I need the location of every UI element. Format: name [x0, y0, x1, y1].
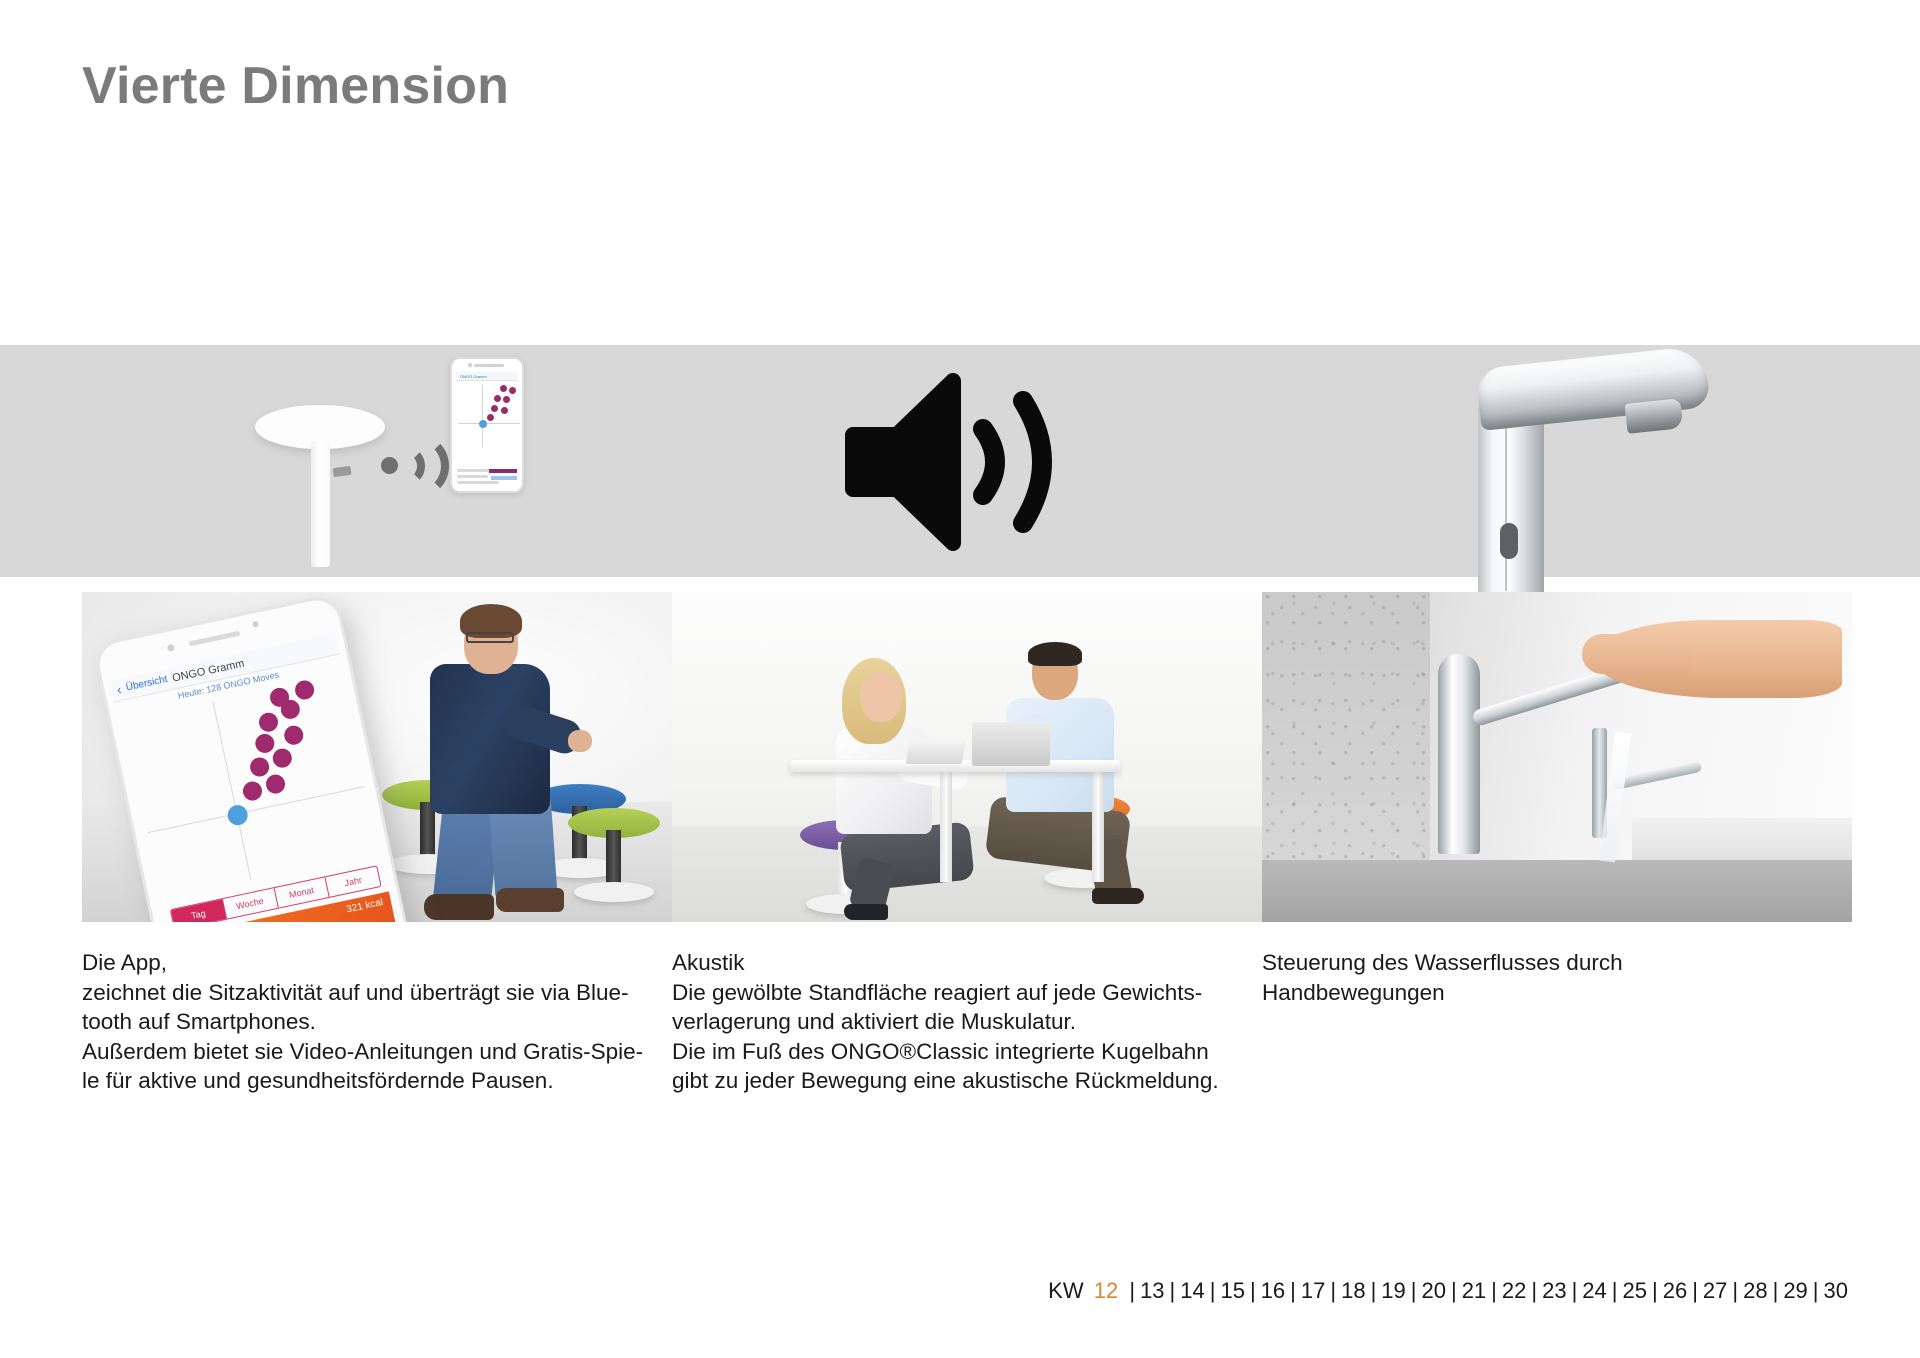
kw-separator: |	[1290, 1278, 1296, 1303]
phone-legend	[457, 469, 517, 487]
bluetooth-signal-icon	[381, 431, 443, 503]
kw-separator: |	[1692, 1278, 1698, 1303]
app-back-label[interactable]: Übersicht	[125, 674, 169, 694]
kw-separator: |	[1572, 1278, 1578, 1303]
tab-tag[interactable]: Tag	[171, 899, 227, 922]
photo-app: ‹ Übersicht ONGO Gramm Heute: 128 ONGO M…	[82, 592, 672, 922]
kw-week-14[interactable]: 14	[1180, 1278, 1204, 1303]
stool-icon	[255, 405, 385, 565]
kw-week-17[interactable]: 17	[1301, 1278, 1325, 1303]
phone-camera-dot	[468, 363, 472, 367]
phone-navbar-label: ONGO Gramm	[456, 372, 518, 381]
signal-arc-outer	[391, 435, 449, 497]
slide-root: Vierte Dimension ONGO Gramm	[0, 0, 1920, 1358]
tablet-device	[906, 738, 967, 764]
photo-akustik	[672, 592, 1262, 922]
faucet-sensor-eye	[1500, 523, 1518, 559]
caption-line: le für aktive und gesundheitsfördernde P…	[82, 1066, 682, 1096]
person-woman	[802, 652, 982, 902]
kw-week-26[interactable]: 26	[1663, 1278, 1687, 1303]
stool-sensor-tab	[332, 466, 351, 477]
faucet-body	[1478, 403, 1544, 593]
caption-line: Akustik	[672, 948, 1272, 978]
kw-separator: |	[1250, 1278, 1256, 1303]
kw-week-29[interactable]: 29	[1783, 1278, 1807, 1303]
laptop-device	[972, 722, 1050, 766]
kw-week-15[interactable]: 15	[1220, 1278, 1244, 1303]
faucet-outlet	[1625, 398, 1684, 434]
kw-current-week[interactable]: 12	[1094, 1278, 1118, 1303]
kw-week-19[interactable]: 19	[1381, 1278, 1405, 1303]
kw-separator: |	[1491, 1278, 1497, 1303]
caption-app: Die App, zeichnet die Sitzaktivität auf …	[82, 948, 682, 1096]
plot-axis-vertical	[482, 385, 483, 447]
kw-week-28[interactable]: 28	[1743, 1278, 1767, 1303]
kw-separator: |	[1773, 1278, 1779, 1303]
phone-speaker-slot	[474, 364, 504, 367]
concrete-wall	[1262, 592, 1430, 860]
banner-phone-icon: ONGO Gramm	[450, 357, 524, 493]
speaker-volume-icon	[845, 367, 1065, 557]
app-scatter-plot	[119, 670, 382, 903]
kw-week-20[interactable]: 20	[1421, 1278, 1445, 1303]
caption-line: Die im Fuß des ONGO®Classic integrierte …	[672, 1037, 1272, 1067]
kw-week-22[interactable]: 22	[1502, 1278, 1526, 1303]
kw-separator: |	[1330, 1278, 1336, 1303]
caption-line: Die App,	[82, 948, 682, 978]
tab-woche[interactable]: Woche	[223, 888, 279, 919]
footer-week-nav: KW 12 |13|14|15|16|17|18|19|20|21|22|23|…	[0, 1278, 1920, 1304]
kw-separator: |	[1451, 1278, 1457, 1303]
desk-leg-left	[940, 772, 952, 882]
caption-line: Steuerung des Wasserflusses durch	[1262, 948, 1862, 978]
kw-week-list[interactable]: |13|14|15|16|17|18|19|20|21|22|23|24|25|…	[1124, 1278, 1848, 1303]
caption-wasserfluss: Steuerung des Wasserflusses durch Handbe…	[1262, 948, 1862, 1007]
kw-week-16[interactable]: 16	[1261, 1278, 1285, 1303]
bluetooth-stool-phone-group: ONGO Gramm	[255, 357, 505, 577]
caption-akustik: Akustik Die gewölbte Standfläche reagier…	[672, 948, 1272, 1096]
caption-line: tooth auf Smartphones.	[82, 1007, 682, 1037]
kw-week-13[interactable]: 13	[1140, 1278, 1164, 1303]
plot-axis-horizontal	[458, 423, 520, 424]
kw-week-27[interactable]: 27	[1703, 1278, 1727, 1303]
tab-jahr[interactable]: Jahr	[326, 866, 381, 896]
caption-line: gibt zu jeder Bewegung eine akustische R…	[672, 1066, 1272, 1096]
faucet-seam	[1505, 411, 1507, 591]
caption-line: zeichnet die Sitzaktivität auf und übert…	[82, 978, 682, 1008]
kw-week-30[interactable]: 30	[1824, 1278, 1848, 1303]
faucet-column	[1438, 654, 1480, 854]
caption-line: Die gewölbte Standfläche reagiert auf je…	[672, 978, 1272, 1008]
kw-week-18[interactable]: 18	[1341, 1278, 1365, 1303]
stool-stem	[311, 441, 330, 567]
back-chevron-icon[interactable]: ‹	[115, 682, 122, 698]
person-man	[972, 642, 1172, 904]
caption-line: Außerdem bietet sie Video-Anleitungen un…	[82, 1037, 682, 1067]
kw-week-24[interactable]: 24	[1582, 1278, 1606, 1303]
kw-separator: |	[1371, 1278, 1377, 1303]
kw-separator: |	[1652, 1278, 1658, 1303]
caption-line: Handbewegungen	[1262, 978, 1862, 1008]
kw-separator: |	[1813, 1278, 1819, 1303]
kw-separator: |	[1732, 1278, 1738, 1303]
photo-row: ‹ Übersicht ONGO Gramm Heute: 128 ONGO M…	[0, 592, 1920, 922]
kw-week-21[interactable]: 21	[1462, 1278, 1486, 1303]
hand-gesture	[1582, 616, 1842, 716]
kw-separator: |	[1612, 1278, 1618, 1303]
desk-leg-right	[1092, 772, 1104, 882]
caption-line: verlagerung und aktiviert die Muskulatur…	[672, 1007, 1272, 1037]
banner-strip: ONGO Gramm	[0, 345, 1920, 577]
kw-week-23[interactable]: 23	[1542, 1278, 1566, 1303]
photo-wasserfluss	[1262, 592, 1852, 922]
kw-separator: |	[1531, 1278, 1537, 1303]
kw-week-25[interactable]: 25	[1623, 1278, 1647, 1303]
phone-scatter-plot	[456, 383, 518, 449]
kw-separator: |	[1210, 1278, 1216, 1303]
page-title: Vierte Dimension	[82, 56, 509, 116]
tab-monat[interactable]: Monat	[274, 877, 330, 908]
faucet-icon	[1430, 285, 1690, 585]
kw-separator: |	[1170, 1278, 1176, 1303]
kw-separator: |	[1129, 1278, 1135, 1303]
kw-separator: |	[1411, 1278, 1417, 1303]
kw-label: KW	[1048, 1278, 1083, 1303]
counter-surface	[1262, 860, 1852, 922]
